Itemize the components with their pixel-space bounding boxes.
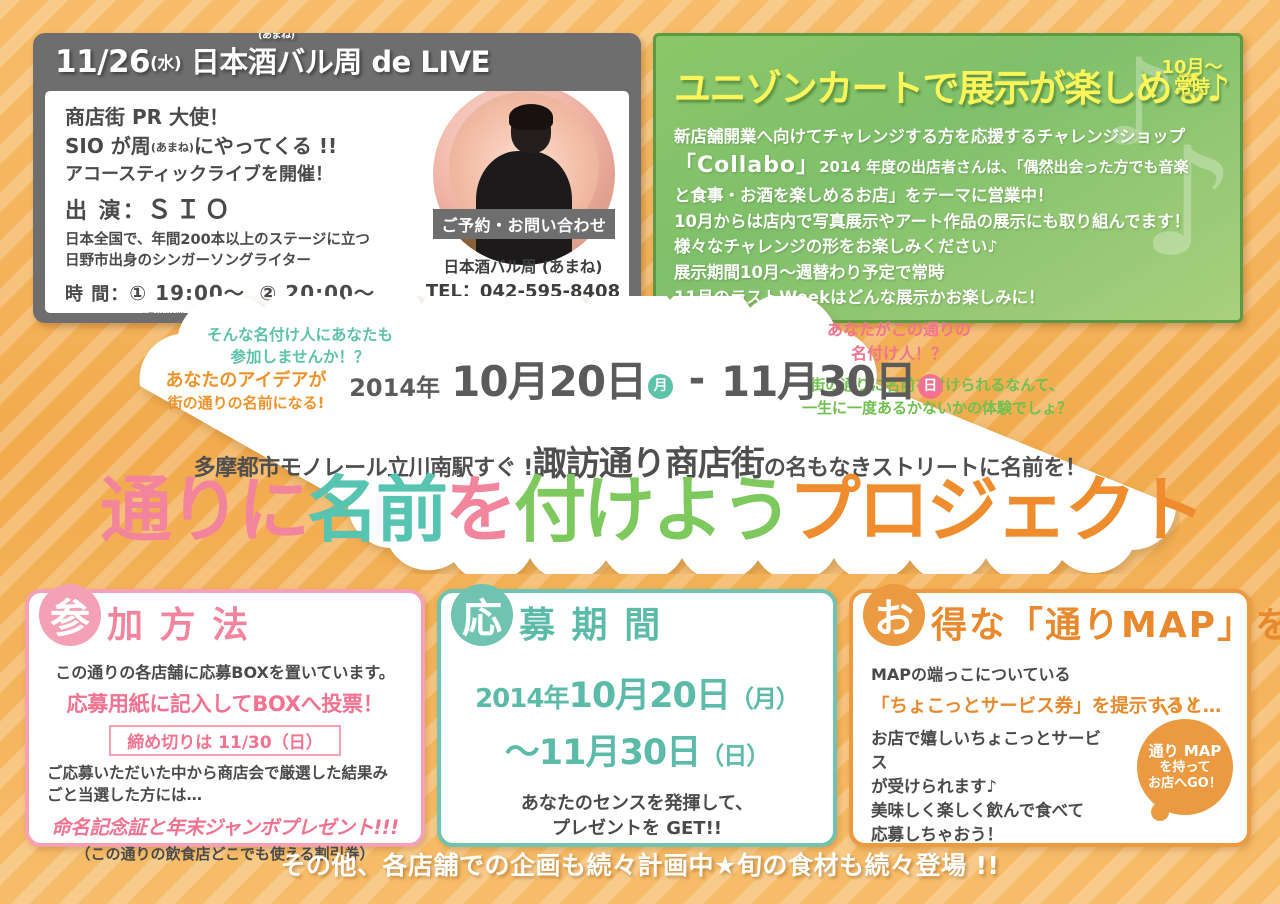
sparkle-icon-3 xyxy=(1192,697,1197,710)
collabo-title: ユニゾンカートで展示が楽しめる♪ xyxy=(674,58,1230,112)
title-part-4: 付けよう xyxy=(514,468,789,552)
live-line3: アコースティックライブを開催！ xyxy=(65,161,465,188)
live-bio: 日本全国で、年間200本以上のステージに立つ 日野市出身のシンガーソングライター xyxy=(65,230,465,271)
collabo-year-text: 2014 年度の出店者さんは、「偶然出会った方でも音楽 xyxy=(819,158,1188,176)
period-start-date: 10月20日 xyxy=(568,676,729,716)
live-line2-ruby: (あまね) xyxy=(151,141,194,154)
live-weekday: (水) xyxy=(150,54,181,74)
photo-figure-body xyxy=(476,151,572,265)
live-panel-title: 11/26(水) (あまね) 日本酒バル周 de LIVE xyxy=(33,33,641,89)
period-note: あなたのセンスを発揮して、 プレゼントを GET!! xyxy=(453,791,821,841)
main-cloud-banner: そんな名付け人にあなたも参加しませんか！？ あなたのアイデアが 街の通りの名前に… xyxy=(100,296,1180,574)
venue-name: 日本酒バル周 xyxy=(191,45,362,79)
collabo-body-line4: 10月からは店内で写真展示やアート作品の展示にも取り組んでます！ xyxy=(674,209,1226,234)
contact-shop-name: 日本酒バル周 (あまね) xyxy=(425,256,621,279)
map-line3: お店で嬉しいちょこっとサービスが受けられます♪美味しく楽しく飲んで食べて応募しち… xyxy=(865,727,1115,847)
collabo-body: 新店舗開業へ向けてチャレンジする方を応援するチャレンジショップ 「Collabo… xyxy=(674,124,1226,310)
map-box-header: お 得な「通りMAP」を配布中！ xyxy=(853,589,1247,655)
street-map-box: お 得な「通りMAP」を配布中！ MAPの端っこについている 「ちょこっとサービ… xyxy=(849,589,1251,847)
map-heading: 得な「通りMAP」を配布中！ xyxy=(931,596,1280,648)
live-text-block: 商店街 PR 大使！ SIO が周(あまね)にやってくる !! アコースティック… xyxy=(65,103,465,313)
title-part-2: 名前 xyxy=(307,468,445,552)
how-to-join-box: 参 加 方 法 この通りの各店舗に応募BOXを置いています。 応募用紙に記入して… xyxy=(25,589,425,847)
period-box-header: 応 募 期 間 xyxy=(441,589,833,655)
collabo-panel: ♪ ♪ ユニゾンカートで展示が楽しめる♪ 10月〜 常時 新店舗開業へ向けてチャ… xyxy=(653,33,1243,323)
period-start-year: 2014年 xyxy=(475,684,568,714)
live-event-panel: 11/26(水) (あまね) 日本酒バル周 de LIVE 商店街 PR 大使！… xyxy=(33,33,641,323)
date-start-month: 10月 xyxy=(451,357,548,406)
date-end-weekday-badge: 日 xyxy=(918,374,943,399)
collabo-body-line3: と食事・お酒を楽しめるお店」をテーマに営業中！ xyxy=(674,183,1226,208)
bio-line2: 日野市出身のシンガーソングライター xyxy=(65,251,465,272)
join-kanji-badge: 参 xyxy=(39,584,101,646)
join-line1: この通りの各店舗に応募BOXを置いています。 xyxy=(41,659,409,683)
period-end-date: 〜11月30日 xyxy=(505,733,700,773)
application-period-box: 応 募 期 間 2014年10月20日（月） 〜11月30日（日） あなたのセン… xyxy=(437,589,837,847)
photo-figure-hair xyxy=(509,104,553,130)
period-box-body: 2014年10月20日（月） 〜11月30日（日） あなたのセンスを発揮して、 … xyxy=(441,655,833,837)
venue-ruby: (あまね) xyxy=(258,33,295,41)
date-start-weekday-badge: 月 xyxy=(648,374,673,399)
live-title-tail: de LIVE xyxy=(371,45,490,79)
live-cast: 出 演：ＳＩＯ xyxy=(65,190,465,226)
live-line1: 商店街 PR 大使！ xyxy=(65,103,465,132)
live-panel-body: 商店街 PR 大使！ SIO が周(あまね)にやってくる !! アコースティック… xyxy=(45,91,629,313)
period-start-weekday: （月） xyxy=(730,685,799,713)
contact-bar: ご予約・お問い合わせ xyxy=(433,209,615,239)
live-line2-a: SIO が周 xyxy=(65,134,151,158)
period-note-line1: あなたのセンスを発揮して、 xyxy=(453,791,821,816)
period-heading: 募 期 間 xyxy=(519,596,662,648)
bubble-text-line3: お店へGO！ xyxy=(1148,776,1222,792)
live-line2: SIO が周(あまね)にやってくる !! xyxy=(65,132,465,161)
date-range-dash: - xyxy=(689,356,706,402)
title-part-5: プロジェクト xyxy=(789,468,1203,552)
join-line2: 応募用紙に記入してBOXへ投票！ xyxy=(41,688,409,718)
period-date-end: 〜11月30日（日） xyxy=(453,724,821,775)
collabo-body-line5: 様々なチャレンジの形をお楽しみください♪ xyxy=(674,234,1226,259)
date-start-day: 20日 xyxy=(549,357,646,406)
date-year: 2014年 xyxy=(349,374,440,402)
title-part-1: 通りに xyxy=(100,468,307,552)
bio-line1: 日本全国で、年間200本以上のステージに立つ xyxy=(65,230,465,251)
bubble-left-line1: あなたのアイデアが xyxy=(126,368,366,393)
map-callout-bubble: 通り MAP を持って お店へGO！ xyxy=(1137,719,1233,815)
flyer-page: 11/26(水) (あまね) 日本酒バル周 de LIVE 商店街 PR 大使！… xyxy=(0,0,1280,904)
join-heading: 加 方 法 xyxy=(107,596,250,648)
footer-note: その他、各店舗での企画も続々計画中★旬の食材も続々登場 !! xyxy=(0,846,1280,882)
period-date-start: 2014年10月20日（月） xyxy=(453,667,821,718)
collabo-shop-name: 「Collabo」 xyxy=(674,153,819,178)
collabo-body-line6: 展示期間10月〜週替わり予定で常時 xyxy=(674,260,1226,285)
collabo-body-line1: 新店舗開業へ向けてチャレンジする方を応援するチャレンジショップ xyxy=(674,124,1226,149)
date-end-month: 11月 xyxy=(721,357,818,406)
bubble-text-line2: を持って xyxy=(1159,760,1210,776)
map-box-body: MAPの端っこについている 「ちょこっとサービス券」を提示すると… お店で嬉しい… xyxy=(853,655,1247,837)
cloud-content: そんな名付け人にあなたも参加しませんか！？ あなたのアイデアが 街の通りの名前に… xyxy=(100,296,1180,574)
sparkle-icon-1 xyxy=(1160,703,1169,716)
event-date-range: 2014年 10月20日月 - 11月30日日 xyxy=(336,348,956,409)
project-main-title: 通りに名前を付けようプロジェクト xyxy=(100,474,1180,546)
live-date: 11/26 xyxy=(55,44,150,80)
badge-line1: 10月〜 xyxy=(1156,58,1228,78)
live-line2-b: にやってくる !! xyxy=(194,134,337,158)
cast-name: ＳＩＯ xyxy=(147,195,234,224)
map-line1: MAPの端っこについている xyxy=(865,661,1235,685)
period-note-line2: プレゼントを GET!! xyxy=(453,816,821,841)
join-prize: 命名記念証と年末ジャンボプレゼント!!! xyxy=(41,811,409,840)
join-box-header: 参 加 方 法 xyxy=(29,589,421,655)
venue-with-ruby: (あまね) 日本酒バル周 xyxy=(191,39,362,81)
period-kanji-badge: 応 xyxy=(451,584,513,646)
join-line4: ご応募いただいた中から商店会で厳選した結果みごと当選した方には… xyxy=(41,763,409,806)
date-end-day: 30日 xyxy=(818,357,915,406)
period-end-weekday: （日） xyxy=(700,742,769,770)
collabo-period-badge: 10月〜 常時 xyxy=(1156,58,1228,98)
badge-line2: 常時 xyxy=(1156,78,1228,98)
join-box-body: この通りの各店舗に応募BOXを置いています。 応募用紙に記入してBOXへ投票！ … xyxy=(29,655,421,837)
map-kanji-badge: お xyxy=(863,584,925,646)
cast-label: 出 演： xyxy=(65,199,147,224)
title-part-3: を xyxy=(445,468,514,552)
bubble-left-secondary: あなたのアイデアが 街の通りの名前になる! xyxy=(126,368,366,414)
bubble-left-line2: 街の通りの名前になる! xyxy=(126,393,366,414)
collabo-body-line2: 「Collabo」2014 年度の出店者さんは、「偶然出会った方でも音楽 xyxy=(674,149,1226,183)
join-deadline: 締め切りは 11/30（日） xyxy=(109,725,341,756)
bubble-text-line1: 通り MAP xyxy=(1149,742,1222,760)
